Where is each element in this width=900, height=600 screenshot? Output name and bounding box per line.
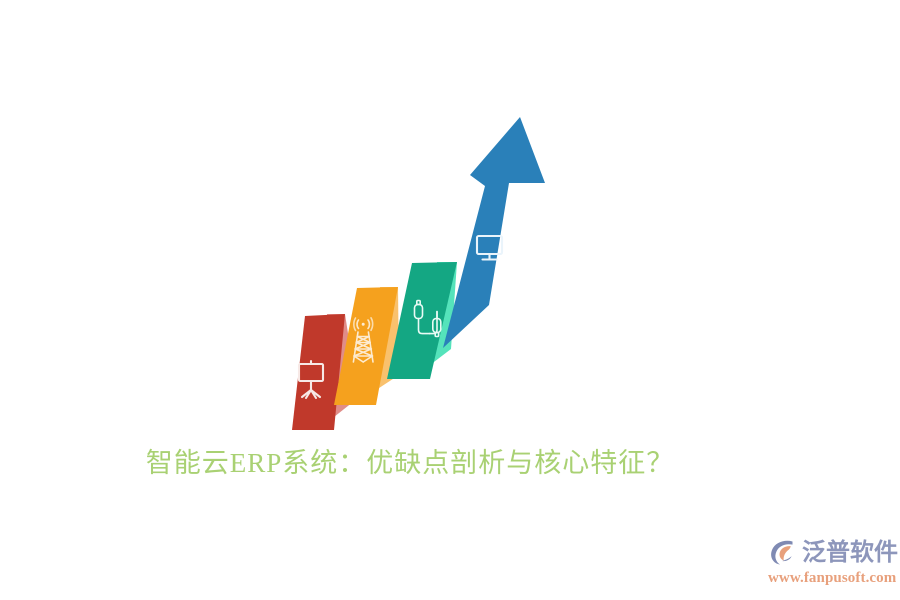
brand-url: www.fanpusoft.com xyxy=(768,569,896,587)
infographic-segment-blue-arrow xyxy=(443,117,545,348)
fanpu-swoosh-logo-icon xyxy=(768,536,800,568)
page-title: 智能云ERP系统：优缺点剖析与核心特征？ xyxy=(0,443,820,483)
page-root: 智能云ERP系统：优缺点剖析与核心特征？ 泛普软件 www.fanpusoft.… xyxy=(0,0,900,600)
segment-blue-arrow-shape xyxy=(443,117,545,348)
brand-row: 泛普软件 xyxy=(768,534,896,570)
ascending-arrow-infographic xyxy=(0,0,900,450)
brand-name: 泛普软件 xyxy=(802,537,898,567)
broadcast-tower-icon xyxy=(353,318,373,362)
brand-watermark: 泛普软件 www.fanpusoft.com xyxy=(768,534,896,590)
